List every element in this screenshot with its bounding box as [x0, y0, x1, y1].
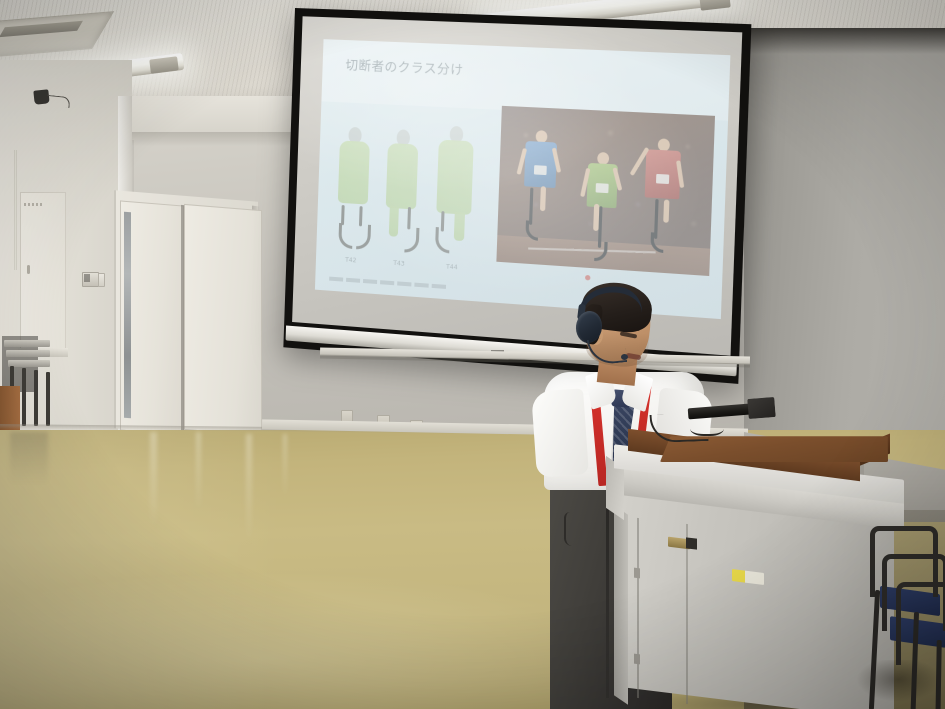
- slide-marker-dot: [585, 275, 590, 281]
- chair-leg: [869, 590, 880, 709]
- figure-leg-intact: [454, 212, 465, 241]
- figure-body: [386, 143, 419, 210]
- stacked-table-leg: [46, 372, 50, 426]
- floor-reflection-left: [10, 432, 48, 484]
- running-blade: [404, 227, 419, 253]
- figure-label: T44: [446, 263, 458, 271]
- trouser-pocket: [564, 512, 588, 546]
- slide-figure-t43: T43: [383, 129, 421, 242]
- projected-slide: 切断者のクラス分け T42: [315, 39, 730, 319]
- presenter-sleeve-left: [531, 388, 589, 477]
- slide-photo-sprinters: [496, 106, 715, 276]
- runner-bib: [596, 183, 609, 193]
- slide-figure-group: T42 T43: [329, 110, 497, 282]
- runner-leg: [663, 200, 669, 223]
- stacked-table-top: [6, 350, 50, 357]
- runner-blade-foot: [525, 220, 538, 240]
- podium-hinge: [634, 568, 640, 579]
- door-glass-strip: [124, 212, 131, 419]
- right-wall-shadow: [744, 28, 945, 54]
- runner-red: [640, 138, 683, 258]
- running-blade-right: [356, 224, 371, 250]
- runner-bib: [656, 174, 669, 184]
- floor-reflection-door-2: [196, 432, 201, 512]
- runner-leg: [540, 186, 546, 211]
- figure-leg-intact: [389, 206, 399, 237]
- floor-reflection-door-1: [150, 432, 157, 528]
- stacked-table-top: [4, 340, 50, 347]
- blade-shank: [407, 207, 411, 229]
- figure-body: [436, 140, 473, 215]
- runner-blade-foot: [650, 232, 664, 253]
- slide-figure-t42: T42: [335, 126, 373, 239]
- podium-latch-handle[interactable]: [686, 537, 697, 549]
- podium-body-left-face: [614, 505, 628, 704]
- wall-plate-secondary[interactable]: [98, 273, 105, 287]
- stacked-table-top: [8, 360, 50, 367]
- runner-bib: [534, 165, 547, 175]
- right-wall: [744, 28, 945, 458]
- runner-blue: [520, 130, 560, 243]
- running-blade-left: [338, 223, 353, 249]
- podium-hinge: [634, 654, 640, 665]
- podium-panel-seam: [686, 524, 688, 704]
- sliding-door-right-panel[interactable]: [184, 204, 262, 436]
- figure-label: T42: [345, 257, 357, 265]
- wall-panel-vent: [24, 203, 44, 206]
- podium-control-device-end[interactable]: [747, 397, 775, 419]
- headset-mic-capsule: [621, 354, 628, 360]
- headset-mic-boom-icon: [587, 336, 628, 366]
- stacked-chairs-right: [860, 520, 945, 709]
- wall-panel-knob[interactable]: [27, 265, 30, 274]
- light-switch-button[interactable]: [84, 274, 90, 282]
- figure-label: T43: [393, 260, 405, 268]
- lecture-room-scene: 切断者のクラス分け T42: [0, 0, 945, 709]
- slide-credit-line: [329, 277, 446, 289]
- runner-green: [583, 151, 621, 257]
- floor-reflection-frame: [283, 434, 287, 498]
- slide-figure-t44: T44: [433, 125, 476, 246]
- device-cable-loop: [690, 418, 724, 436]
- wall-conduit: [14, 150, 17, 270]
- stacked-table-leg: [22, 368, 26, 426]
- runner-blade-shank: [529, 188, 533, 225]
- figure-body: [338, 140, 370, 204]
- chair-leg: [935, 640, 942, 709]
- stacked-table-leg: [34, 370, 38, 426]
- podium-panel-seam: [637, 518, 639, 698]
- floor-reflection-door-3: [246, 434, 252, 544]
- running-blade: [435, 227, 450, 253]
